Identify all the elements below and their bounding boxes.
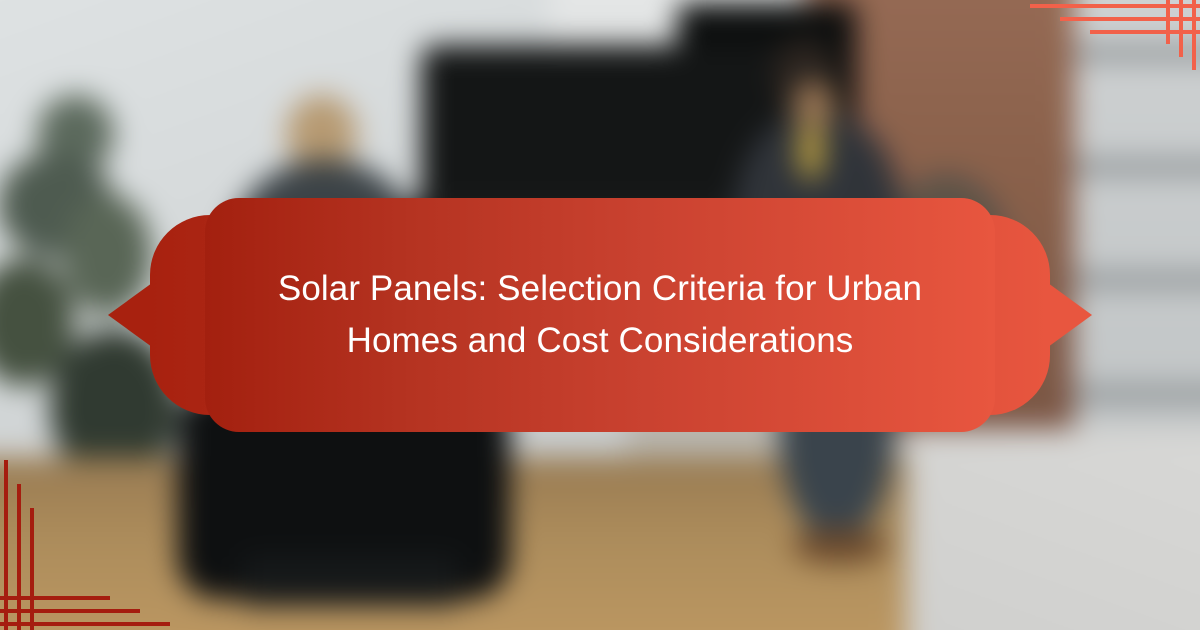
corner-lines-top-right [1030,0,1200,70]
photo-floor-right [907,429,1200,630]
corner-lines-bottom-left [0,460,170,630]
corner-line-vertical [1192,0,1196,70]
corner-line-horizontal [1090,30,1200,34]
corner-line-horizontal [0,622,170,626]
banner-stage: Solar Panels: Selection Criteria for Urb… [0,0,1200,630]
corner-line-vertical [17,484,21,630]
title-card-content: Solar Panels: Selection Criteria for Urb… [205,198,995,432]
corner-line-vertical [1179,0,1183,57]
photo-person-suit [792,528,888,564]
corner-line-horizontal [0,609,140,613]
photo-shelf-line [1074,159,1200,175]
photo-shelf-line [1074,272,1200,288]
photo-person-suit [798,123,824,180]
title-card-spike-right [1048,283,1092,347]
photo-office-chair [242,556,460,606]
corner-line-vertical [4,460,8,630]
corner-line-horizontal [1030,4,1200,8]
photo-shelf-line [1074,386,1200,402]
corner-line-vertical [1166,0,1170,44]
page-title: Solar Panels: Selection Criteria for Urb… [278,263,922,367]
title-card-spike-left [108,283,152,347]
corner-line-vertical [30,508,34,630]
title-card: Solar Panels: Selection Criteria for Urb… [108,190,1092,440]
